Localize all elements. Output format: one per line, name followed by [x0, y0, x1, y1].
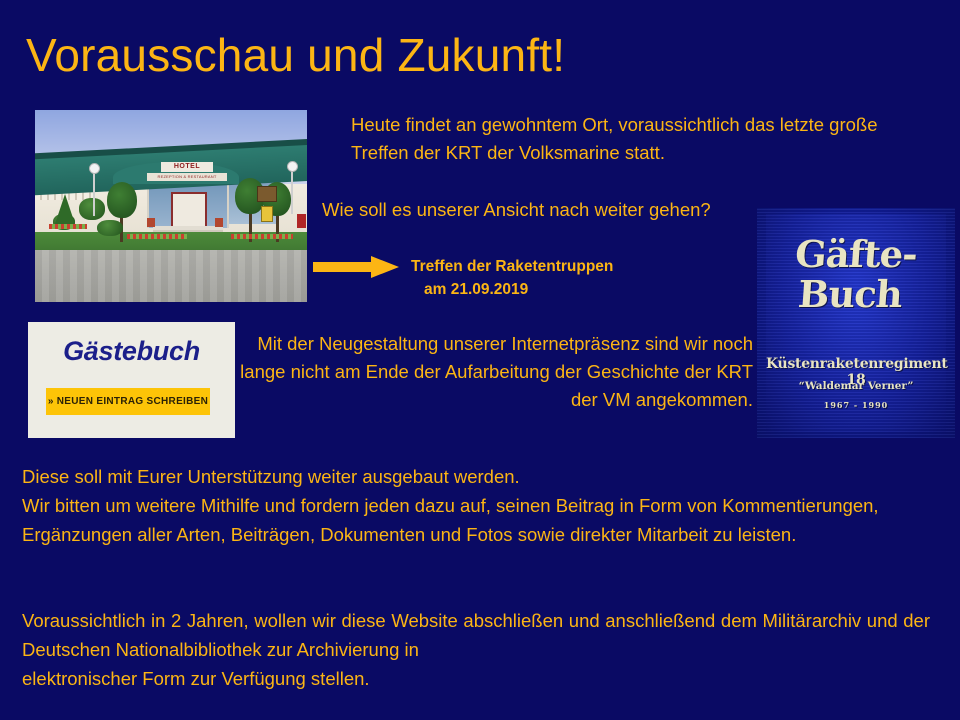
- photo-yellow-sign: [261, 206, 273, 222]
- photo-hotel-sign: HOTEL: [161, 162, 213, 172]
- guestbook-widget[interactable]: Gästebuch » NEUEN EINTRAG SCHREIBEN: [28, 322, 235, 438]
- photo-flowerbed: [127, 234, 187, 239]
- paragraph-voraussichtlich: Voraussichtlich in 2 Jahren, wollen wir …: [22, 606, 930, 693]
- photo-red-object: [297, 214, 306, 228]
- slide-canvas: Vorausschau und Zukunft! HOTEL REZEPTION…: [0, 0, 960, 720]
- paragraph-heute: Heute findet an gewohntem Ort, voraussic…: [351, 111, 926, 167]
- arrow-callout-line1: Treffen der Raketentruppen: [411, 258, 613, 275]
- guestbook-cover-inner: Gäfte- Buch Küstenraketenregiment 18 “Wa…: [766, 214, 946, 432]
- photo-planter: [147, 218, 155, 227]
- photo-pavement: [35, 250, 307, 302]
- photo-flowerbed: [49, 224, 87, 229]
- new-entry-button[interactable]: » NEUEN EINTRAG SCHREIBEN: [46, 388, 210, 415]
- photo-entrance-doors: [171, 192, 207, 230]
- photo-lamp-pole: [93, 170, 95, 216]
- photo-planter: [215, 218, 223, 227]
- arrow-callout-label: Treffen der Raketentruppen am 21.09.2019: [411, 255, 711, 301]
- photo-info-sign: [257, 186, 277, 202]
- guestbook-title: Gästebuch: [28, 336, 235, 367]
- arrow-callout-line2: am 21.09.2019: [411, 278, 711, 301]
- guestbook-cover-years: 1967 - 1990: [766, 400, 946, 410]
- photo-shrub: [79, 198, 105, 220]
- guestbook-cover-honor-name: “Waldemar Verner”: [766, 380, 946, 392]
- guestbook-cover-title-line1: Gäfte-: [764, 232, 947, 276]
- page-title: Vorausschau und Zukunft!: [26, 28, 565, 82]
- guestbook-cover-image: Gäfte- Buch Küstenraketenregiment 18 “Wa…: [757, 208, 955, 438]
- right-arrow-icon: [313, 255, 399, 279]
- photo-lamp-head: [287, 161, 298, 172]
- paragraph-voraussichtlich-lastline: elektronischer Form zur Verfügung stelle…: [22, 664, 930, 693]
- photo-conifer: [55, 194, 75, 224]
- photo-shrub: [97, 220, 123, 236]
- photo-hotel-subsign: REZEPTION & RESTAURANT: [147, 173, 227, 181]
- photo-lamp-pole: [291, 168, 293, 214]
- guestbook-cover-title-line2: Buch: [758, 272, 941, 316]
- hotel-photo: HOTEL REZEPTION & RESTAURANT: [35, 110, 307, 302]
- photo-lamp-head: [89, 163, 100, 174]
- paragraph-diese-soll: Diese soll mit Eurer Unterstützung weite…: [22, 462, 934, 549]
- photo-tree: [107, 182, 137, 218]
- paragraph-voraussichtlich-body: Voraussichtlich in 2 Jahren, wollen wir …: [22, 610, 930, 660]
- photo-flowerbed: [231, 234, 293, 239]
- paragraph-neugestaltung: Mit der Neugestaltung unserer Internetpr…: [240, 330, 753, 414]
- paragraph-wie-soll-es-weiter-gehen: Wie soll es unserer Ansicht nach weiter …: [322, 196, 722, 224]
